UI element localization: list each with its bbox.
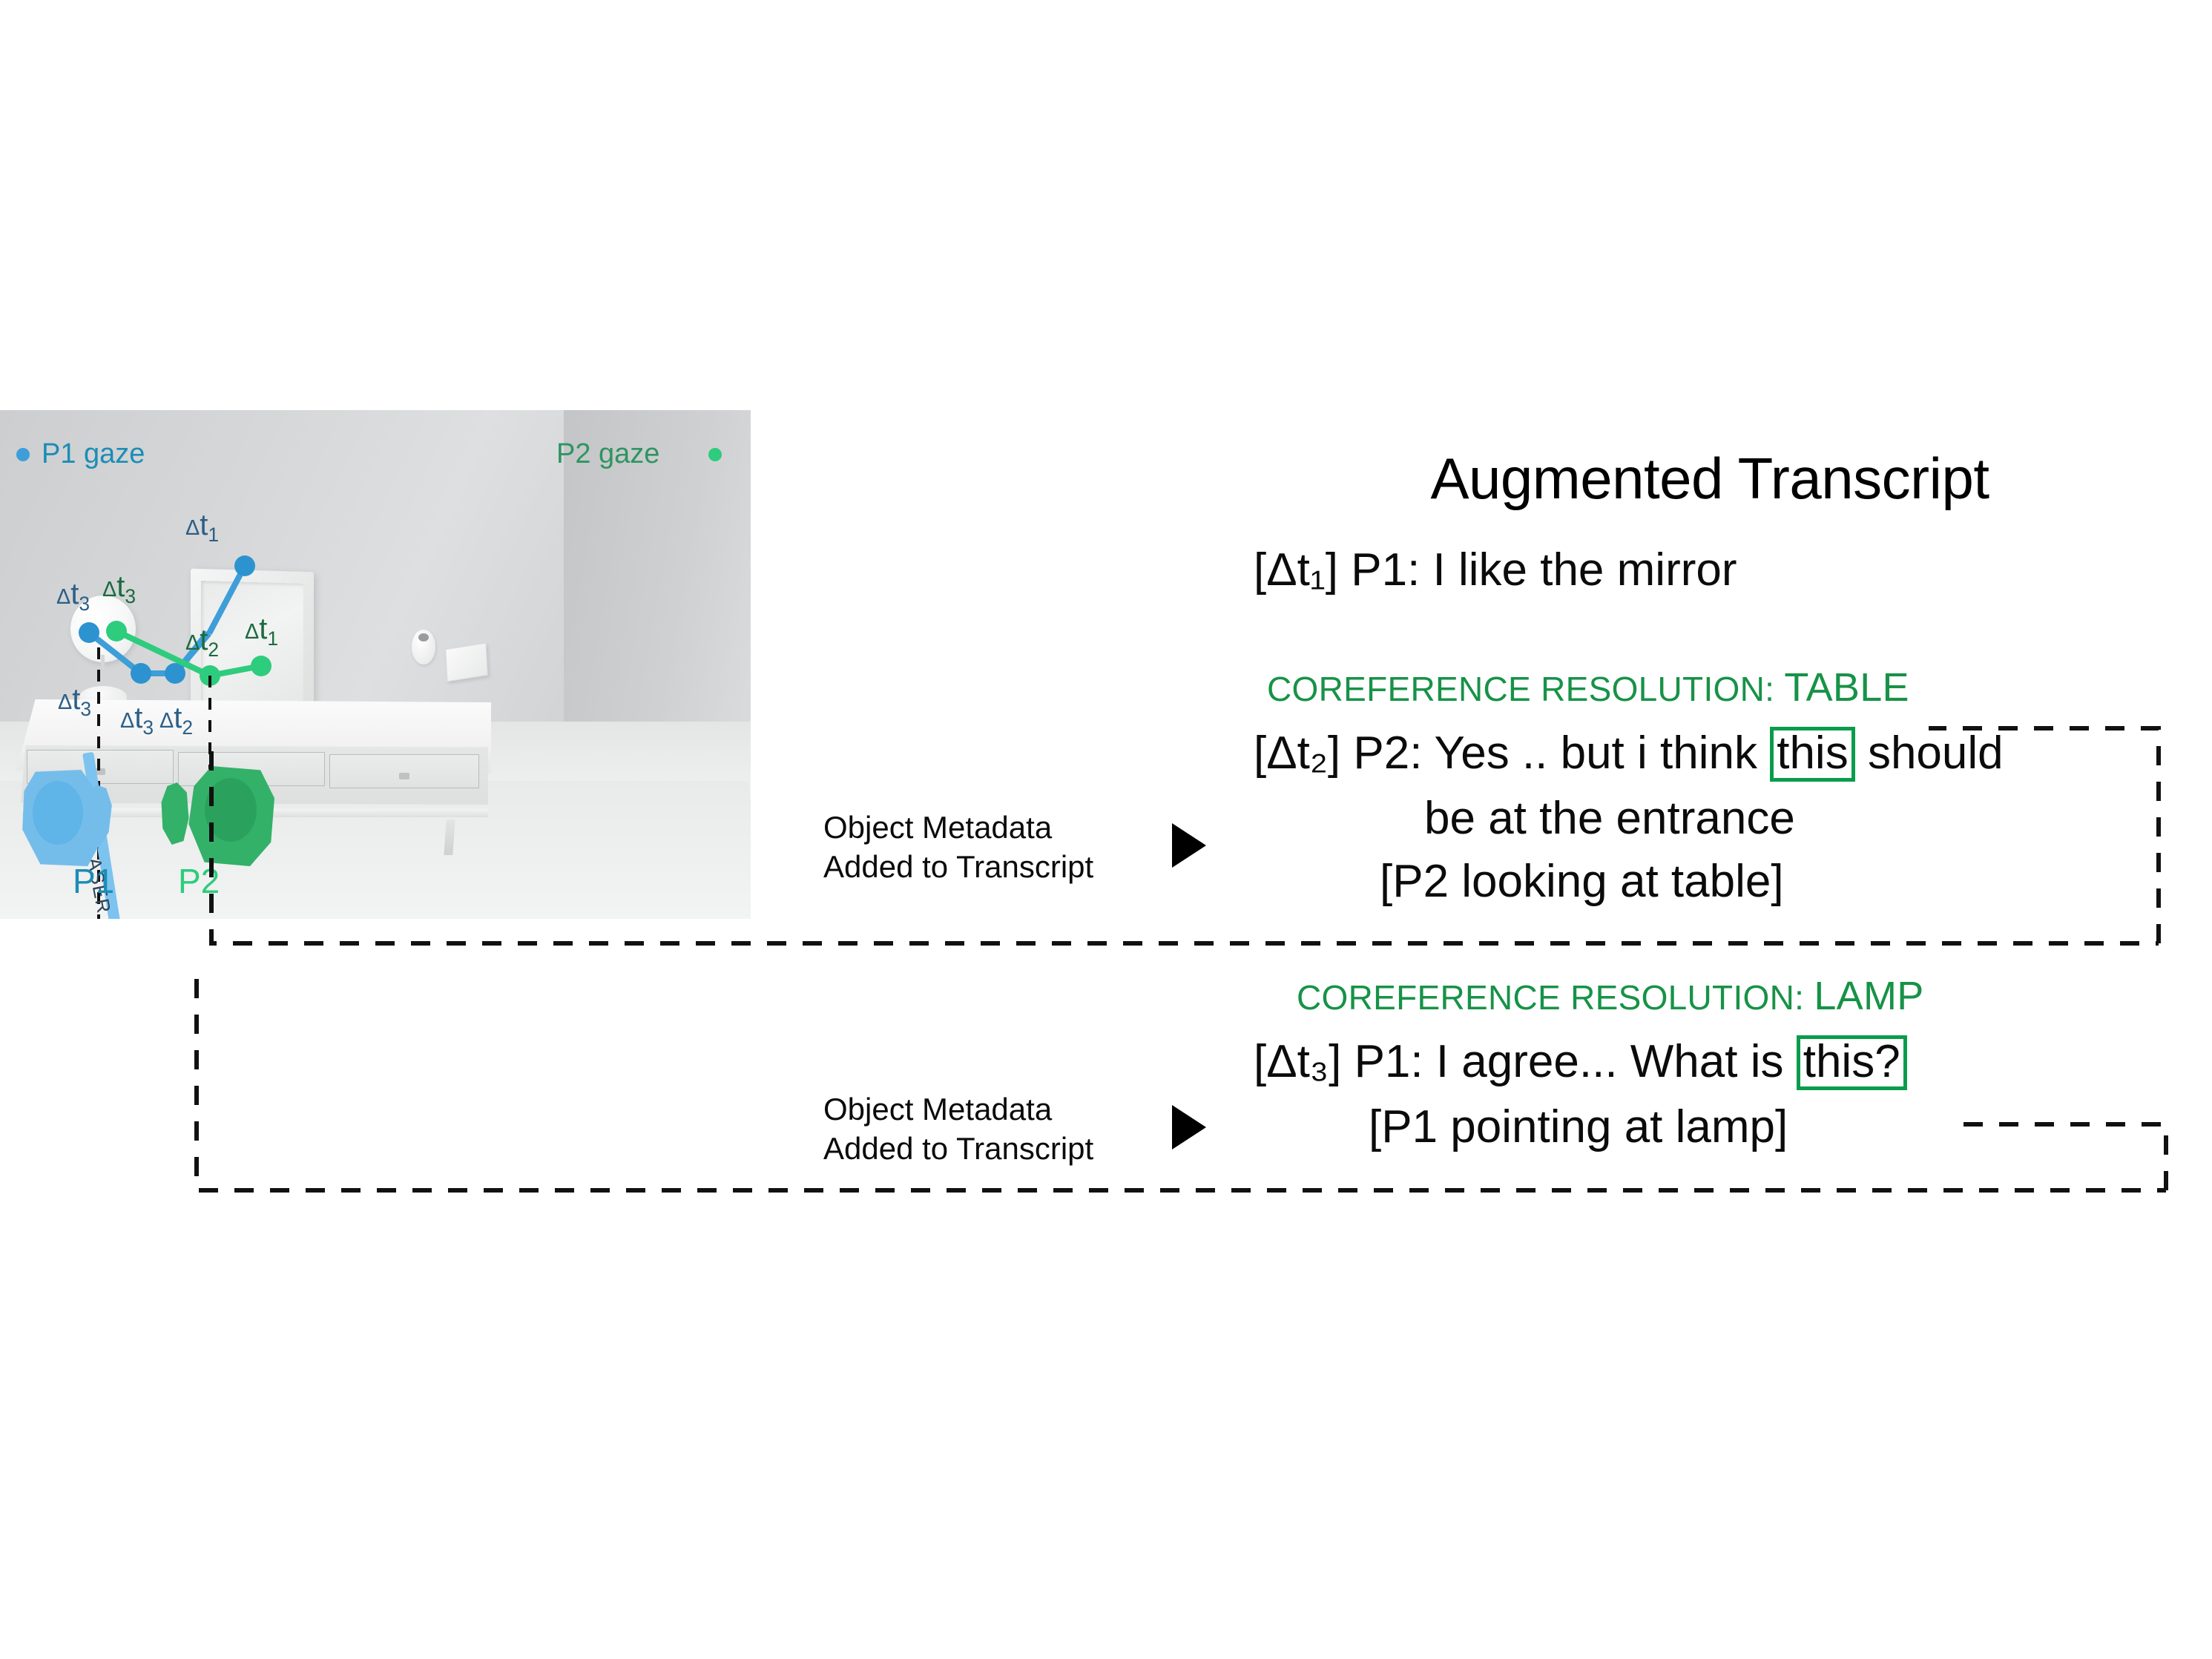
deictic-reference-this[interactable]: this? (1797, 1035, 1907, 1090)
p2-gaze-legend-dot (708, 448, 722, 461)
coreference-resolution-table: COREFERENCE RESOLUTION: TABLE (1254, 664, 2166, 710)
flow-arrow-bottom-icon (1172, 1105, 1206, 1150)
p1-gaze-legend-dot (16, 448, 30, 461)
table-drawer (329, 754, 479, 788)
coref-prefix: COREFERENCE RESOLUTION: (1267, 670, 1774, 708)
utterance-prefix: [Δt₃] P1: I agree... What is (1254, 1036, 1783, 1087)
transcript-line-annotation: [P1 pointing at lamp] (1254, 1101, 2166, 1153)
utterance-suffix: should (1868, 728, 2004, 779)
transcript-entry-t1: [Δt₁] P1: I like the mirror (1254, 544, 2166, 596)
person-p1-head (33, 781, 83, 845)
gaze-label-lamp-p2: Δt3 (102, 572, 136, 606)
flow-note-bottom: Object Metadata Added to Transcript (823, 1090, 1093, 1168)
gaze-label-lamp-p1: Δt3 (56, 579, 90, 613)
person-p1-label: P1 (73, 861, 114, 901)
transcript-line: be at the entrance (1254, 792, 2166, 845)
gaze-label-table-p2-t1: Δt1 (245, 614, 278, 648)
p2-gaze-legend-label: P2 gaze (556, 438, 659, 470)
gaze-label-lampbase-p1: Δt3 (58, 685, 91, 719)
flow-note-bottom-line2: Added to Transcript (823, 1129, 1093, 1169)
transcript-line: [Δt₃] P1: I agree... What is this? (1254, 1035, 2166, 1090)
person-p2-label: P2 (178, 861, 220, 901)
flow-note-top-line2: Added to Transcript (823, 848, 1093, 887)
deictic-reference-this[interactable]: this (1770, 727, 1854, 782)
transcript-entry-t2: COREFERENCE RESOLUTION: TABLE [Δt₂] P2: … (1254, 664, 2166, 908)
transcript-line: [Δt₁] P1: I like the mirror (1254, 544, 2166, 596)
coref-object-table: TABLE (1784, 665, 1909, 710)
drawer-knob (399, 773, 409, 779)
flow-note-top-line1: Object Metadata (823, 808, 1093, 848)
scene-panel: P1 gaze P2 gaze Δt3 Δt3 Δt3 Δt1 Δt2 Δt1 … (0, 410, 751, 919)
gaze-label-mirror-p1: Δt1 (185, 510, 219, 544)
vase-object (412, 630, 435, 664)
book-object (445, 643, 488, 682)
gaze-label-table-p1-t2: Δt2 (159, 703, 193, 737)
person-p2-head (205, 778, 257, 842)
gaze-label-table-p1-t3: Δt3 (120, 703, 154, 737)
transcript-line: [Δt₂] P2: Yes .. but i think this should (1254, 727, 2166, 782)
vase-opening (418, 633, 429, 641)
transcript-title: Augmented Transcript (1254, 445, 2166, 512)
transcript-line-annotation: [P2 looking at table] (1254, 855, 2166, 908)
p1-gaze-legend-label: P1 gaze (42, 438, 145, 470)
flow-arrow-top-icon (1172, 823, 1206, 868)
utterance-prefix: [Δt₂] P2: Yes .. but i think (1254, 728, 1757, 779)
flow-note-top: Object Metadata Added to Transcript (823, 808, 1093, 886)
gaze-label-table-p2-t2: Δt2 (185, 625, 219, 659)
coref-prefix: COREFERENCE RESOLUTION: (1297, 978, 1804, 1017)
coref-object-lamp: LAMP (1814, 974, 1923, 1018)
flow-note-bottom-line1: Object Metadata (823, 1090, 1093, 1129)
coreference-resolution-lamp: COREFERENCE RESOLUTION: LAMP (1254, 973, 2166, 1019)
transcript-entry-t3: COREFERENCE RESOLUTION: LAMP [Δt₃] P1: I… (1254, 973, 2166, 1153)
augmented-transcript-panel: Augmented Transcript [Δt₁] P1: I like th… (1254, 445, 2166, 1153)
